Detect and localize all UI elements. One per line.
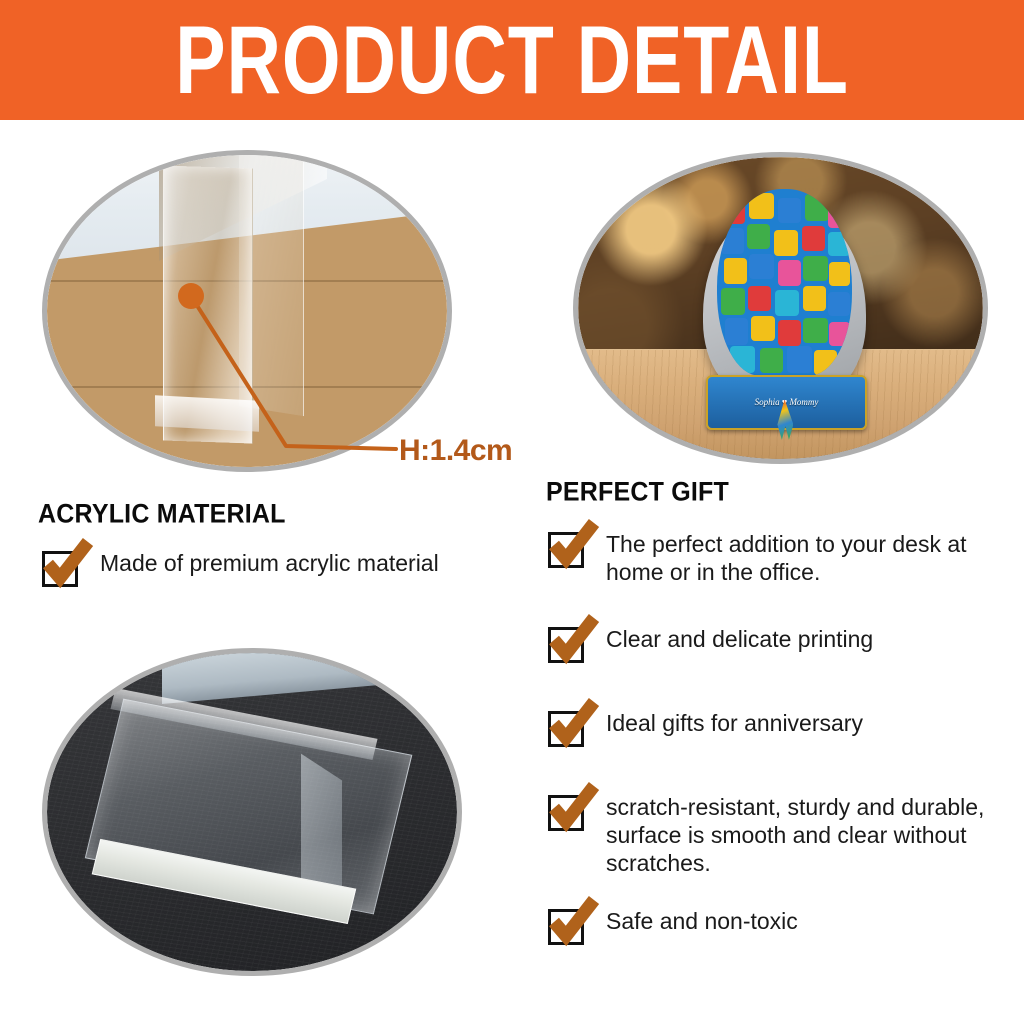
photo-sculpture-inner: Sophia ♥ Mommy [578,157,983,459]
checkmark-icon [548,614,602,668]
checkmark-icon [548,519,602,573]
section-heading-perfect-gift: PERFECT GIFT [546,477,729,508]
checkbox-icon[interactable] [42,551,78,587]
list-item-label: Clear and delicate printing [606,625,873,653]
header-banner: PRODUCT DETAIL [0,0,1024,120]
list-item: Ideal gifts for anniversary [548,709,863,747]
checkbox-icon[interactable] [548,795,584,831]
acrylic-bottom-bevel [155,396,259,433]
list-item: Clear and delicate printing [548,625,873,663]
page-title: PRODUCT DETAIL [175,13,849,110]
photo-acrylic-edge [42,150,452,472]
list-item-label: scratch-resistant, sturdy and durable, s… [606,793,1024,877]
sculpture-figure: Sophia ♥ Mommy [695,181,873,435]
checkmark-icon [42,538,96,592]
callout-marker-dot [178,283,204,309]
checkbox-icon[interactable] [548,627,584,663]
list-item: The perfect addition to your desk at hom… [548,530,1024,586]
section-heading-acrylic-material: ACRYLIC MATERIAL [38,499,286,530]
list-item-label: The perfect addition to your desk at hom… [606,530,1024,586]
checkbox-icon[interactable] [548,711,584,747]
photo-sculpture: Sophia ♥ Mommy [573,152,988,464]
list-item-label: Made of premium acrylic material [100,549,439,577]
photo-acrylic-block [42,648,462,976]
list-item: Made of premium acrylic material [42,549,439,587]
list-item: scratch-resistant, sturdy and durable, s… [548,793,1024,877]
checkmark-icon [548,896,602,950]
checkbox-icon[interactable] [548,909,584,945]
puzzle-piece-mosaic [717,189,852,377]
list-item-label: Safe and non-toxic [606,907,798,935]
size-callout-label: H:1.4cm [399,434,512,468]
checkbox-icon[interactable] [548,532,584,568]
photo-acrylic-block-inner [47,653,457,971]
checkmark-icon [548,782,602,836]
checkmark-icon [548,698,602,752]
list-item-label: Ideal gifts for anniversary [606,709,863,737]
list-item: Safe and non-toxic [548,907,798,945]
photo-acrylic-edge-inner [47,155,447,467]
